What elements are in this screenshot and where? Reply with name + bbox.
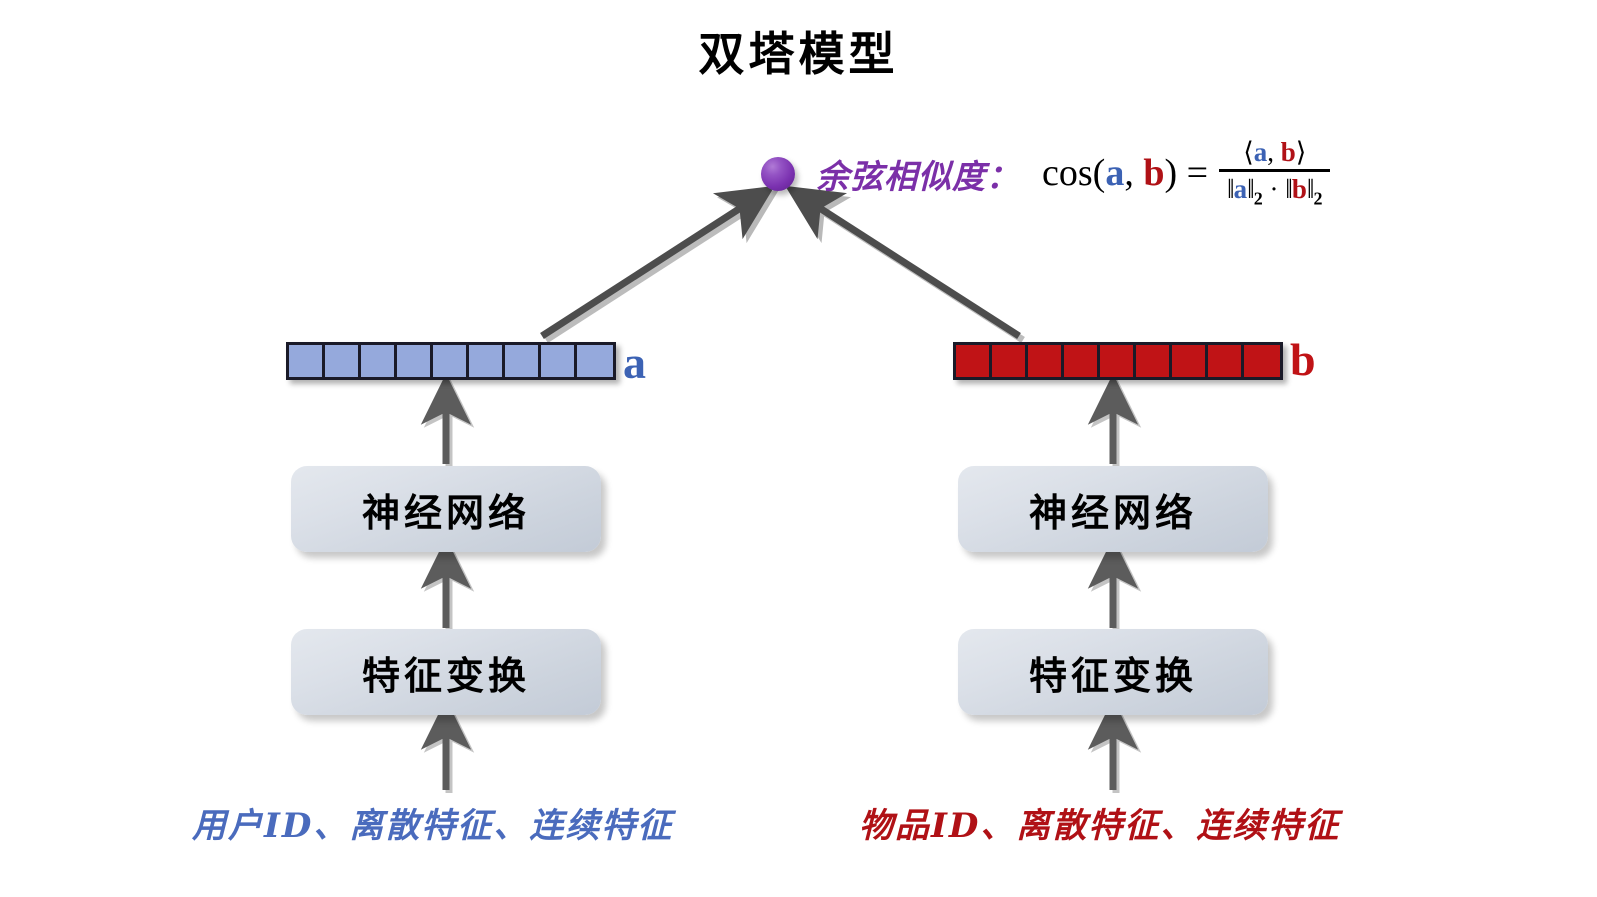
formula-lhs: cos(a, b) = <box>1042 151 1208 195</box>
arrow-layer <box>0 0 1597 897</box>
vector-cell <box>1172 345 1208 377</box>
vector-a-bar <box>286 342 616 380</box>
box-label: 神经网络 <box>1029 482 1197 537</box>
vector-cell <box>325 345 361 377</box>
vector-cell <box>397 345 433 377</box>
user-tower-feature-transform-box[interactable]: 特征变换 <box>291 629 601 715</box>
vector-cell <box>1136 345 1172 377</box>
user-tower-neural-network-box[interactable]: 神经网络 <box>291 466 601 552</box>
vector-cell <box>469 345 505 377</box>
vector-cell <box>1244 345 1280 377</box>
arrow-diagonal-left <box>542 198 756 336</box>
vector-cell <box>505 345 541 377</box>
formula-numerator: ⟨a, b⟩ <box>1235 139 1314 169</box>
cosine-similarity-label: 余弦相似度： <box>816 150 1020 198</box>
vector-cell <box>433 345 469 377</box>
cosine-similarity-formula: cos(a, b) = ⟨a, b⟩ ‖a‖2 · ‖b‖2 <box>1042 139 1330 207</box>
vector-cell <box>992 345 1028 377</box>
arrow-diagonal-right <box>804 198 1019 336</box>
diagram-canvas: 双塔模型 <box>0 0 1597 897</box>
vector-a-label: a <box>623 336 646 389</box>
page-title: 双塔模型 <box>0 18 1597 84</box>
vector-cell <box>361 345 397 377</box>
vector-cell <box>1064 345 1100 377</box>
arrow-diagonal-left-shadow <box>546 202 760 340</box>
vector-cell <box>577 345 613 377</box>
vector-cell <box>1028 345 1064 377</box>
vector-b-bar <box>953 342 1283 380</box>
vector-cell <box>541 345 577 377</box>
box-label: 特征变换 <box>362 645 530 700</box>
formula-denominator: ‖a‖2 · ‖b‖2 <box>1219 172 1330 207</box>
item-tower-feature-transform-box[interactable]: 特征变换 <box>958 629 1268 715</box>
vector-cell <box>289 345 325 377</box>
vector-b-label: b <box>1290 333 1316 386</box>
sphere-node-icon <box>761 157 795 191</box>
box-label: 神经网络 <box>362 482 530 537</box>
vector-cell <box>1208 345 1244 377</box>
formula-fraction: ⟨a, b⟩ ‖a‖2 · ‖b‖2 <box>1219 139 1330 207</box>
item-tower-input-label: 物品ID、离散特征、连续特征 <box>859 798 1340 847</box>
box-label: 特征变换 <box>1029 645 1197 700</box>
item-tower-neural-network-box[interactable]: 神经网络 <box>958 466 1268 552</box>
user-tower-input-label: 用户ID、离散特征、连续特征 <box>192 798 673 847</box>
arrow-diagonal-right-shadow <box>808 202 1023 340</box>
vector-cell <box>956 345 992 377</box>
vector-cell <box>1100 345 1136 377</box>
